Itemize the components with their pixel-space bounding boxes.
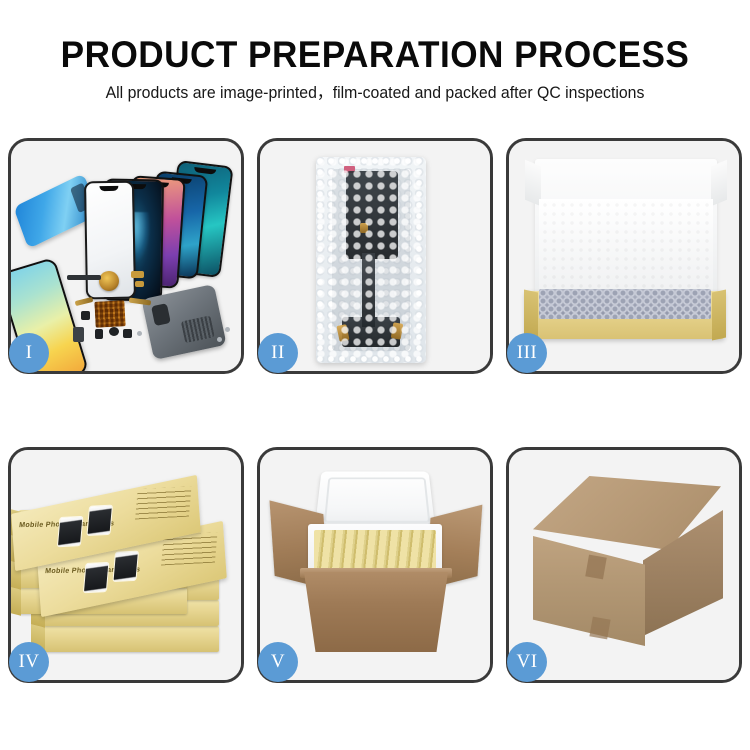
box-lid-phone-image-4 bbox=[88, 506, 112, 535]
part-connector-1 bbox=[131, 271, 144, 278]
sealed-carton-front bbox=[533, 536, 645, 646]
step-1-image bbox=[11, 141, 241, 371]
carton-tape-upper bbox=[585, 555, 607, 580]
stacked-box-back-1 bbox=[43, 626, 219, 652]
part-screw-1 bbox=[137, 331, 142, 336]
carton-tape-lower bbox=[589, 617, 610, 640]
gold-coil-part bbox=[99, 271, 119, 291]
part-connector-2 bbox=[135, 281, 144, 287]
box-lid-phone-image-1 bbox=[84, 563, 108, 592]
chip-array-part bbox=[94, 300, 125, 328]
white-foam-sheet bbox=[539, 199, 713, 295]
part-block-1 bbox=[81, 311, 90, 320]
page-title: PRODUCT PREPARATION PROCESS bbox=[19, 36, 732, 73]
retail-box-stack: Mobile Phone Spare Parts Mobile Phone Sp… bbox=[13, 476, 241, 676]
process-step-6: VI bbox=[506, 447, 742, 683]
step-2-image bbox=[260, 141, 490, 371]
carton-front bbox=[304, 572, 448, 652]
step-badge-3: III bbox=[507, 333, 547, 373]
process-step-4: Mobile Phone Spare Parts Mobile Phone Sp… bbox=[8, 447, 244, 683]
step-6-image bbox=[509, 450, 739, 680]
box-lid-phone-image-2 bbox=[114, 552, 138, 581]
page-subtitle: All products are image-printed，film-coat… bbox=[15, 84, 735, 104]
box-lid-spec-lines-top bbox=[135, 486, 191, 519]
bubble-wrap-bag bbox=[316, 157, 426, 363]
box-lid-phone-image-3 bbox=[58, 517, 82, 546]
part-screw-3 bbox=[225, 327, 230, 332]
process-step-5: V bbox=[257, 447, 493, 683]
part-flex-cable-1 bbox=[75, 297, 94, 306]
step-badge-6: VI bbox=[507, 642, 547, 682]
part-strip-1 bbox=[67, 275, 101, 280]
part-block-3 bbox=[109, 327, 119, 336]
product-preparation-infographic: PRODUCT PREPARATION PROCESS All products… bbox=[0, 0, 750, 750]
step-5-image bbox=[260, 450, 490, 680]
lcd-flex-cable bbox=[362, 253, 375, 327]
phone-parts-scene bbox=[11, 141, 241, 371]
step-badge-5: V bbox=[258, 642, 298, 682]
process-step-2: II bbox=[257, 138, 493, 374]
part-screw-2 bbox=[217, 337, 222, 342]
step-badge-2: II bbox=[258, 333, 298, 373]
process-step-1: I bbox=[8, 138, 244, 374]
step-badge-1: I bbox=[9, 333, 49, 373]
gold-connector-mid bbox=[360, 223, 368, 233]
process-step-3: III bbox=[506, 138, 742, 374]
step-badge-4: IV bbox=[9, 642, 49, 682]
step-3-image bbox=[509, 141, 739, 371]
part-block-2 bbox=[95, 329, 103, 339]
part-block-4 bbox=[123, 329, 132, 338]
grey-foam-insert bbox=[539, 289, 711, 319]
process-step-grid: I II bbox=[8, 138, 742, 683]
part-camera-module bbox=[73, 327, 84, 342]
step-4-image: Mobile Phone Spare Parts Mobile Phone Sp… bbox=[11, 450, 241, 680]
lcd-assembly-body bbox=[346, 171, 398, 259]
